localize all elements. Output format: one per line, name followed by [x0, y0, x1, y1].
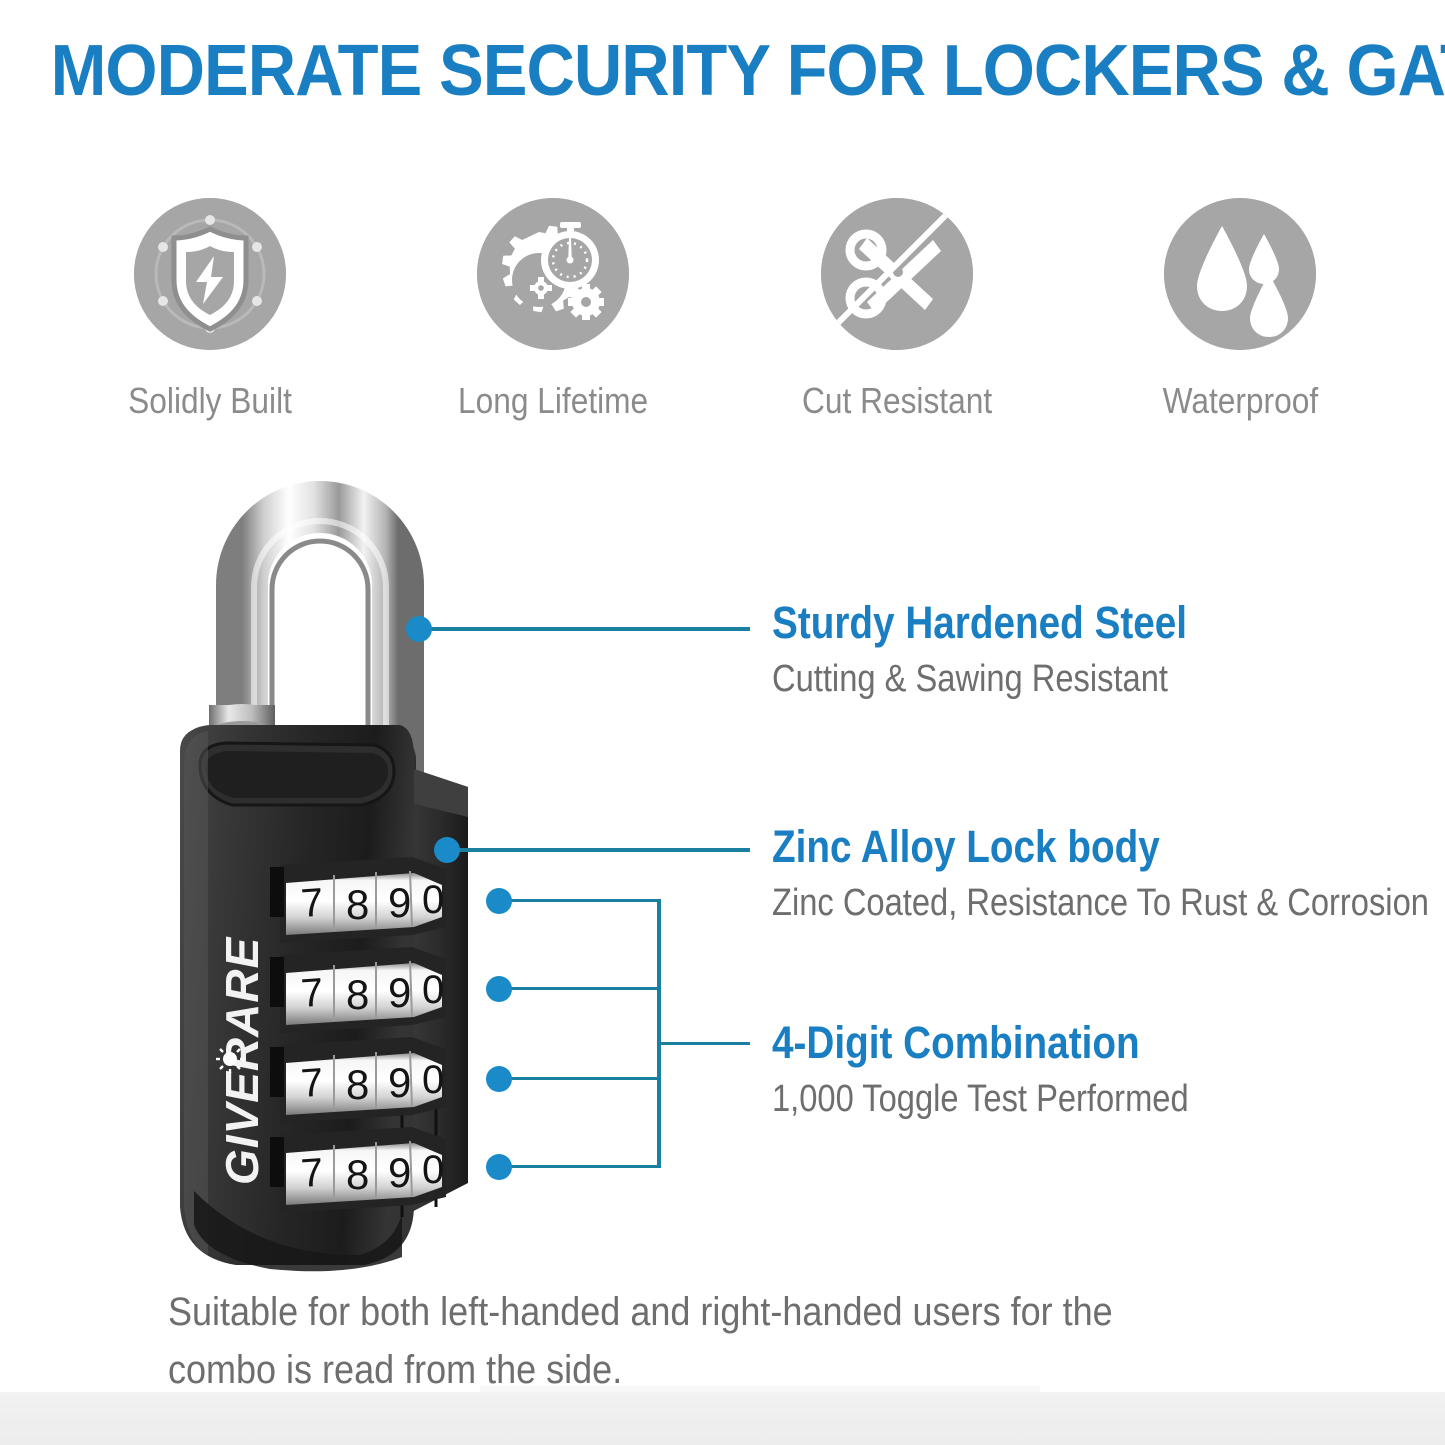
feature-cut-resistant: Cut Resistant — [747, 198, 1047, 422]
svg-text:9: 9 — [388, 1059, 411, 1106]
callout-title: Sturdy Hardened Steel — [772, 598, 1187, 648]
feature-badge-row: Solidly Built — [60, 198, 1390, 448]
gear-stopwatch-icon — [477, 198, 629, 350]
dial-row: 7 8 9 0 — [270, 947, 446, 1033]
caption-line-1: Suitable for both left-handed and right-… — [168, 1283, 1077, 1341]
svg-text:9: 9 — [388, 1149, 411, 1196]
infographic-canvas: MODERATE SECURITY FOR LOCKERS & GATES — [0, 0, 1445, 1445]
bracket-branch — [657, 1042, 750, 1045]
page-title: MODERATE SECURITY FOR LOCKERS & GATES — [51, 34, 1395, 110]
callout-subtitle: 1,000 Toggle Test Performed — [772, 1078, 1189, 1122]
callout-subtitle: Cutting & Sawing Resistant — [772, 658, 1187, 702]
svg-text:8: 8 — [346, 1151, 369, 1198]
svg-text:7: 7 — [300, 881, 325, 926]
feature-label: Solidly Built — [128, 380, 292, 422]
bracket-arm — [508, 1165, 660, 1168]
feature-long-lifetime: Long Lifetime — [403, 198, 703, 422]
callout-title: 4-Digit Combination — [772, 1018, 1189, 1068]
svg-text:0: 0 — [422, 1148, 444, 1192]
svg-text:8: 8 — [346, 881, 369, 928]
bracket-spine — [657, 899, 661, 1168]
bracket-arm — [508, 899, 660, 902]
callout-title: Zinc Alloy Lock body — [772, 822, 1429, 872]
dial-row: 7 8 9 0 — [270, 857, 446, 943]
callout-sturdy-hardened-steel: Sturdy Hardened Steel Cutting & Sawing R… — [772, 598, 1255, 701]
feature-label: Waterproof — [1162, 380, 1318, 422]
bracket-arm — [508, 1077, 660, 1080]
svg-text:7: 7 — [300, 971, 325, 1016]
svg-text:0: 0 — [422, 968, 444, 1012]
svg-text:7: 7 — [300, 1151, 325, 1196]
svg-text:0: 0 — [422, 1058, 444, 1102]
feature-label: Cut Resistant — [802, 380, 992, 422]
scissors-no-cut-icon — [821, 198, 973, 350]
dial-row: 7 8 9 0 — [270, 1127, 446, 1213]
svg-text:0: 0 — [422, 878, 444, 922]
dial-row: 7 8 9 0 — [270, 1037, 446, 1123]
padlock-product-image: GIVERARE — [150, 465, 510, 1295]
bracket-arm — [508, 987, 660, 990]
svg-text:7: 7 — [300, 1061, 325, 1106]
svg-text:9: 9 — [388, 969, 411, 1016]
bottom-surface-band — [0, 1392, 1445, 1445]
callout-zinc-alloy-lock-body: Zinc Alloy Lock body Zinc Coated, Resist… — [772, 822, 1445, 925]
svg-text:9: 9 — [388, 879, 411, 926]
feature-label: Long Lifetime — [458, 380, 648, 422]
shield-bolt-icon — [134, 198, 286, 350]
feature-solidly-built: Solidly Built — [60, 198, 360, 422]
feature-waterproof: Waterproof — [1090, 198, 1390, 422]
callout-subtitle: Zinc Coated, Resistance To Rust & Corros… — [772, 882, 1429, 926]
brand-logo: GIVERARE — [216, 936, 268, 1185]
water-drops-icon — [1164, 198, 1316, 350]
svg-text:8: 8 — [346, 1061, 369, 1108]
bottom-caption: Suitable for both left-handed and right-… — [168, 1283, 1178, 1399]
svg-text:8: 8 — [346, 971, 369, 1018]
callout-4-digit-combination: 4-Digit Combination 1,000 Toggle Test Pe… — [772, 1018, 1256, 1121]
